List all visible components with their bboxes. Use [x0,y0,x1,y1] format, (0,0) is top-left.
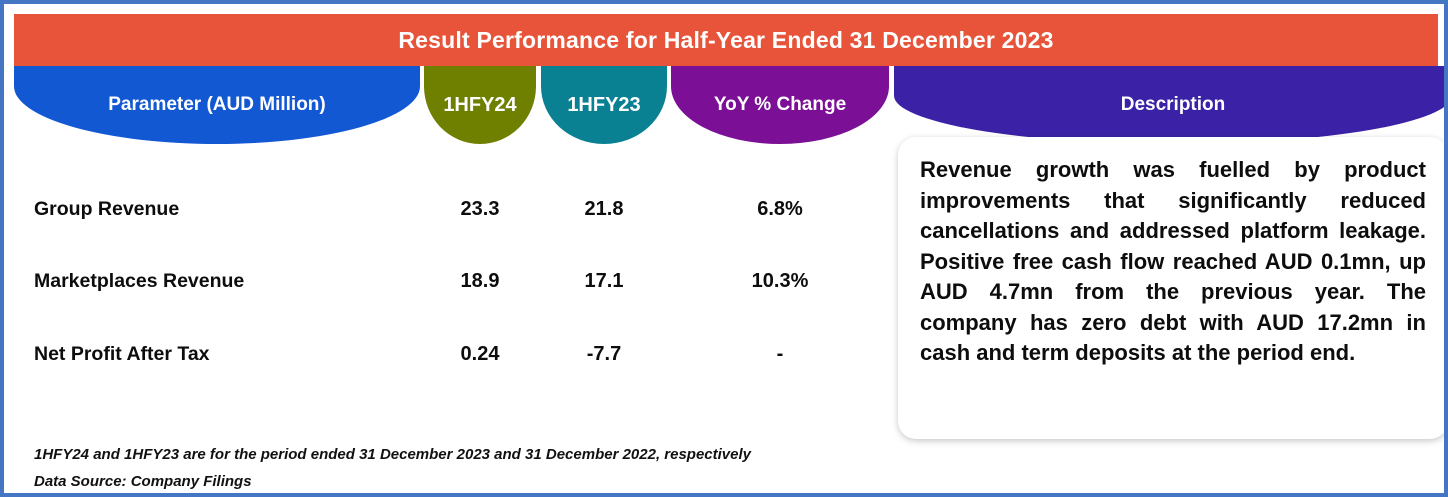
result-performance-table-card: Result Performance for Half-Year Ended 3… [0,0,1448,497]
row-parameter-name: Group Revenue [34,198,179,221]
row-parameter-name: Marketplaces Revenue [34,270,244,293]
page-title: Result Performance for Half-Year Ended 3… [398,27,1053,54]
table-row: Marketplaces Revenue 18.9 17.1 10.3% [14,261,889,301]
row-value-yoy-change: 6.8% [671,198,889,221]
column-header-1hfy24: 1HFY24 [424,66,536,144]
footnote-period-note: 1HFY24 and 1HFY23 are for the period end… [34,441,884,468]
row-value-1hfy23: 17.1 [541,270,667,293]
description-text: Revenue growth was fuelled by product im… [920,155,1426,369]
row-value-yoy-change: 10.3% [671,270,889,293]
row-value-1hfy23: -7.7 [541,343,667,366]
description-card: Revenue growth was fuelled by product im… [898,137,1448,439]
column-header-parameter: Parameter (AUD Million) [14,66,420,144]
row-value-yoy-change: - [671,343,889,366]
column-header-1hfy24-label: 1HFY24 [443,94,516,117]
row-value-1hfy24: 18.9 [424,270,536,293]
column-header-yoy-change-label: YoY % Change [714,94,846,116]
table-row: Net Profit After Tax 0.24 -7.7 - [14,334,889,374]
table-header-row: Parameter (AUD Million) 1HFY24 1HFY23 Yo… [4,66,1448,144]
title-band: Result Performance for Half-Year Ended 3… [14,14,1438,66]
column-header-yoy-change: YoY % Change [671,66,889,144]
footnotes: 1HFY24 and 1HFY23 are for the period end… [34,441,884,495]
row-value-1hfy24: 23.3 [424,198,536,221]
row-parameter-name: Net Profit After Tax [34,343,210,366]
table-row: Group Revenue 23.3 21.8 6.8% [14,189,889,229]
column-header-1hfy23: 1HFY23 [541,66,667,144]
column-header-description-label: Description [1121,94,1226,116]
footnote-data-source: Data Source: Company Filings [34,468,884,495]
row-value-1hfy23: 21.8 [541,198,667,221]
table-body: Group Revenue 23.3 21.8 6.8% Marketplace… [14,144,889,491]
column-header-1hfy23-label: 1HFY23 [567,94,640,117]
column-header-parameter-label: Parameter (AUD Million) [108,94,325,116]
column-header-description: Description [894,66,1448,144]
row-value-1hfy24: 0.24 [424,343,536,366]
